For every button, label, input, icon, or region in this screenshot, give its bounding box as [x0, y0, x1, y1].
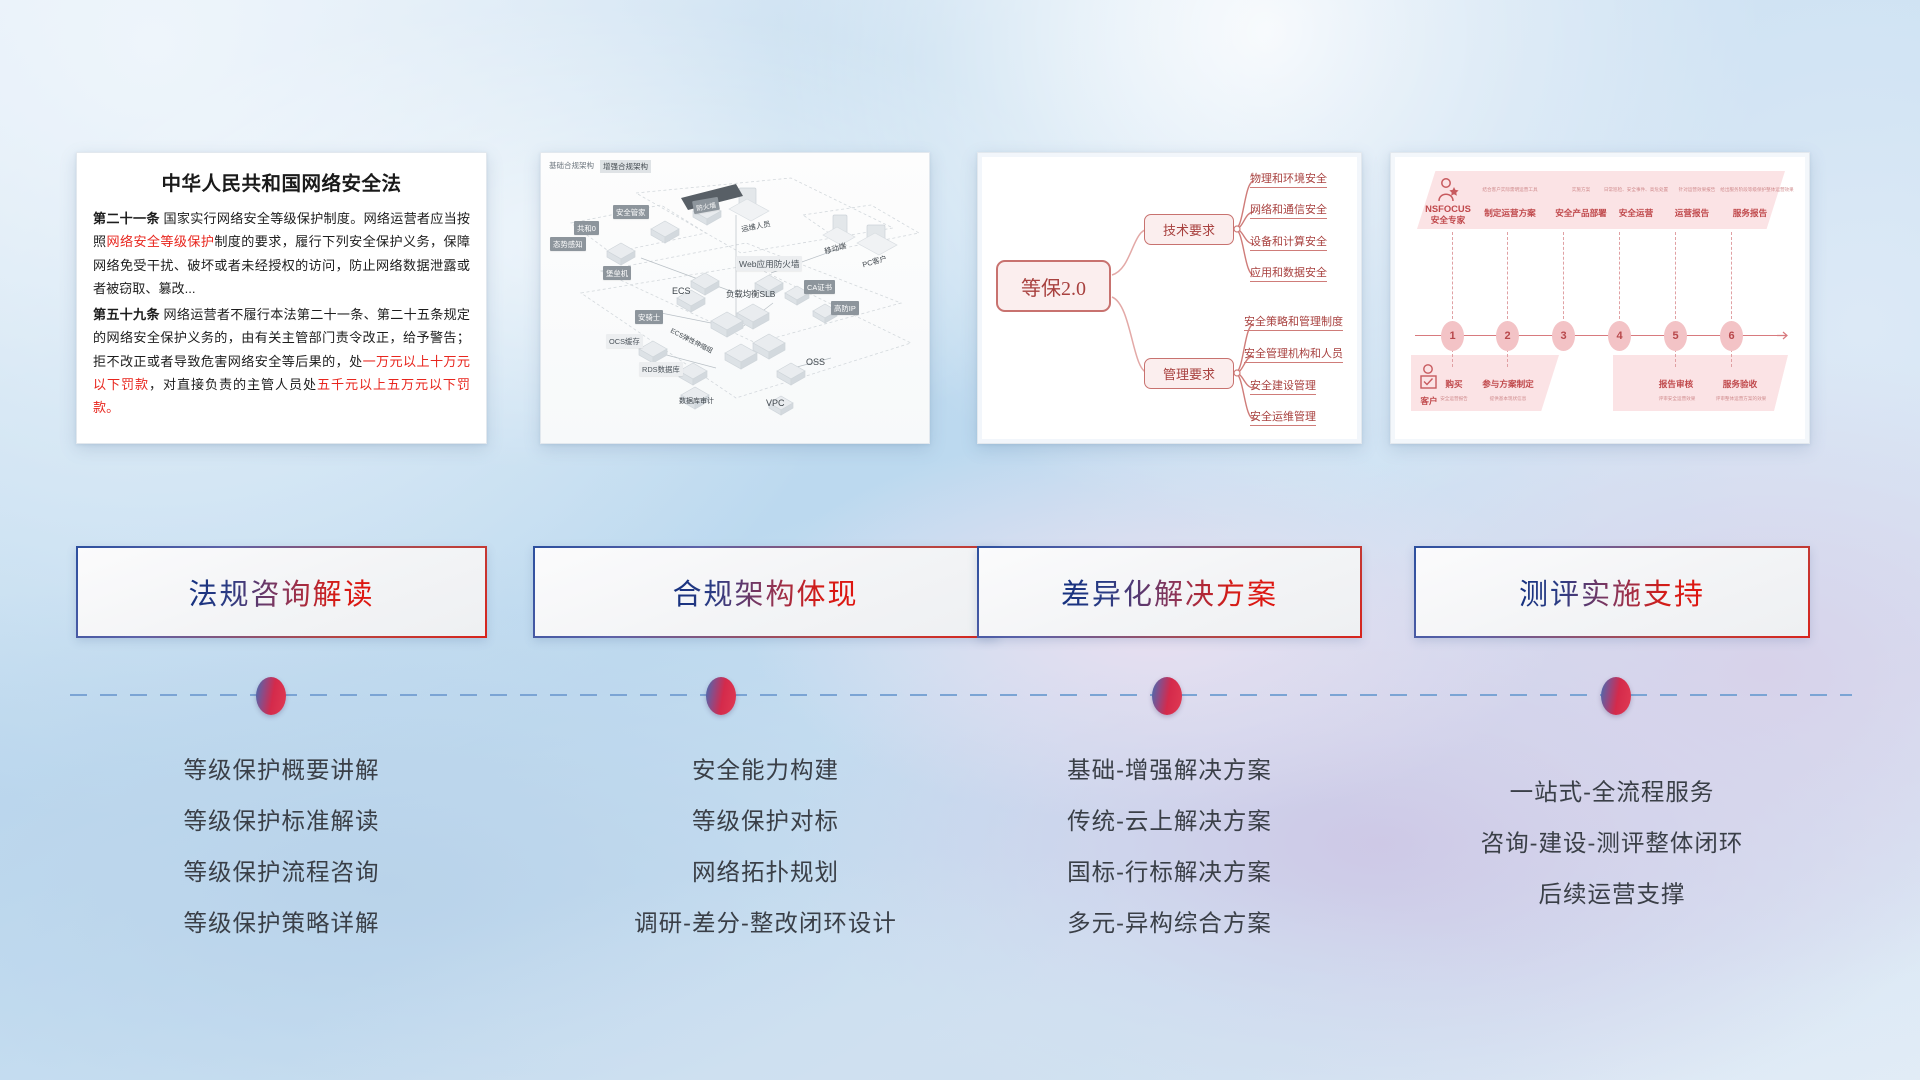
- mindmap-leaf-tech-4: 应用和数据安全: [1250, 264, 1327, 282]
- list-item: 等级保护标准解读: [76, 796, 487, 847]
- dash-connector-2: [1507, 232, 1508, 324]
- arch-label-ocs-cache: OCS缓存: [606, 334, 643, 348]
- timeline-number-6: 6: [1720, 321, 1743, 351]
- arch-label-bastion-host: 堡垒机: [603, 266, 631, 280]
- arch-label-shared: 共和0: [574, 221, 599, 235]
- mindmap-leaf-mgmt-3: 安全建设管理: [1250, 377, 1316, 395]
- list-item: 等级保护概要讲解: [76, 745, 487, 796]
- category-button-differentiated-solution[interactable]: 差异化解决方案: [977, 546, 1362, 638]
- category-label-4: 测评实施支持: [1519, 571, 1705, 613]
- mindmap-leaf-mgmt-4: 安全运维管理: [1250, 408, 1316, 426]
- article-59-number: 第五十九条: [93, 307, 160, 322]
- category-label-1: 法规咨询解读: [188, 571, 374, 613]
- category-label-2: 合规架构体现: [672, 571, 858, 613]
- card-cloud-architecture[interactable]: 基础合规架构 增强合规架构: [540, 152, 930, 444]
- article-21-highlight: 网络安全等级保护: [106, 234, 214, 249]
- list-item: 传统-云上解决方案: [977, 796, 1362, 847]
- law-document: 中华人民共和国网络安全法 第二十一条 国家实行网络安全等级保护制度。网络运营者应…: [77, 153, 486, 443]
- card-mindmap-dengbao[interactable]: 等保2.0 技术要求 管理要求 物理和环境安全 网络和通信安全 设备和计算安全 …: [977, 152, 1362, 444]
- mindmap-leaf-tech-1: 物理和环境安全: [1250, 170, 1327, 188]
- category-button-regulation-consulting[interactable]: 法规咨询解读: [76, 546, 487, 638]
- category-buttons-row: 法规咨询解读 合规架构体现 差异化解决方案 测评实施支持: [0, 546, 1920, 638]
- arch-label-anti-ddos-ip: 高防IP: [831, 301, 859, 315]
- service-list-2: 安全能力构建 等级保护对标 网络拓扑规划 调研-差分-整改闭环设计: [533, 745, 998, 949]
- arch-label-vpc: VPC: [763, 396, 788, 409]
- mindmap-branch-technical[interactable]: 技术要求: [1144, 214, 1234, 245]
- nsfocus-timeline: NSFOCUS 安全专家 结合客户实际需明运营工具 制定运营方案 实施方案 安全…: [1391, 153, 1809, 443]
- list-item: 后续运营支撑: [1414, 869, 1810, 920]
- top-step-5-sub: 给出服务阶段等级保护整体运营效果: [1695, 187, 1810, 193]
- arch-label-ecs: ECS: [669, 284, 694, 297]
- dash-connector-3: [1563, 232, 1564, 324]
- dash-connector-b4: [1731, 349, 1732, 367]
- card-cybersecurity-law[interactable]: 中华人民共和国网络安全法 第二十一条 国家实行网络安全等级保护制度。网络运营者应…: [76, 152, 487, 444]
- arch-label-anqishi: 安骑士: [635, 310, 663, 324]
- dash-connector-6: [1731, 232, 1732, 324]
- list-item: 基础-增强解决方案: [977, 745, 1362, 796]
- arch-label-situation-awareness: 态势感知: [550, 237, 586, 251]
- arch-label-ca-cert: CA证书: [804, 280, 835, 294]
- dash-connector-b2: [1507, 349, 1508, 367]
- mindmap-leaf-mgmt-1: 安全策略和管理制度: [1244, 313, 1343, 331]
- law-article-21: 第二十一条 国家实行网络安全等级保护制度。网络运营者应当按照网络安全等级保护制度…: [93, 207, 470, 300]
- mindmap-root[interactable]: 等保2.0: [996, 260, 1111, 312]
- service-list-3: 基础-增强解决方案 传统-云上解决方案 国标-行标解决方案 多元-异构综合方案: [977, 745, 1362, 949]
- card-nsfocus-service-timeline[interactable]: NSFOCUS 安全专家 结合客户实际需明运营工具 制定运营方案 实施方案 安全…: [1390, 152, 1810, 444]
- timeline-number-5: 5: [1664, 321, 1687, 351]
- bottom-step-4-title: 服务验收: [1707, 378, 1773, 390]
- category-button-assessment-support[interactable]: 测评实施支持: [1414, 546, 1810, 638]
- bottom-step-1-title: 购买: [1433, 378, 1475, 390]
- timeline-number-4: 4: [1608, 321, 1631, 351]
- arch-label-oss: OSS: [803, 355, 828, 368]
- arch-label-waf: Web应用防火墙: [736, 256, 802, 271]
- bottom-step-1-sub: 安全运营报告: [1429, 396, 1479, 402]
- service-lists-row: 等级保护概要讲解 等级保护标准解读 等级保护流程咨询 等级保护策略详解 安全能力…: [0, 745, 1920, 985]
- list-item: 国标-行标解决方案: [977, 847, 1362, 898]
- timeline-dot-4[interactable]: [1601, 677, 1631, 715]
- article-59-text-b: ，对直接负责的主管人员处: [149, 377, 317, 392]
- arch-label-security-manager: 安全管家: [613, 205, 649, 219]
- arch-label-rds: RDS数据库: [639, 362, 683, 376]
- list-item: 调研-差分-整改闭环设计: [533, 898, 998, 949]
- article-21-number: 第二十一条: [93, 211, 160, 226]
- bottom-step-2-title: 参与方案制定: [1475, 378, 1541, 390]
- timeline-number-3: 3: [1552, 321, 1575, 351]
- bottom-step-3-title: 报告审核: [1643, 378, 1709, 390]
- law-article-59: 第五十九条 网络运营者不履行本法第二十一条、第二十五条规定的网络安全保护义务的，…: [93, 303, 470, 419]
- bottom-step-4-sub: 评审整体运营方案的效果: [1699, 396, 1783, 402]
- list-item: 多元-异构综合方案: [977, 898, 1362, 949]
- timeline-dashed-line: [70, 694, 1852, 696]
- list-item: 咨询-建设-测评整体闭环: [1414, 818, 1810, 869]
- dash-connector-4: [1619, 232, 1620, 324]
- category-button-compliance-architecture[interactable]: 合规架构体现: [533, 546, 998, 638]
- architecture-diagram: 基础合规架构 增强合规架构: [541, 153, 929, 443]
- timeline-number-2: 2: [1496, 321, 1519, 351]
- expert-person-icon: [1435, 177, 1461, 203]
- list-item: 安全能力构建: [533, 745, 998, 796]
- mindmap-branch-management[interactable]: 管理要求: [1144, 358, 1234, 389]
- timeline-dot-2[interactable]: [706, 677, 736, 715]
- arch-label-db-audit: 数据库审计: [676, 394, 717, 407]
- list-item: 一站式-全流程服务: [1414, 767, 1810, 818]
- timeline-dot-3[interactable]: [1152, 677, 1182, 715]
- dash-connector-b1: [1452, 349, 1453, 367]
- list-item: 等级保护策略详解: [76, 898, 487, 949]
- timeline-arrow-icon: [1777, 329, 1791, 343]
- mindmap-leaf-tech-3: 设备和计算安全: [1250, 233, 1327, 251]
- list-item: 等级保护流程咨询: [76, 847, 487, 898]
- timeline-number-1: 1: [1441, 321, 1464, 351]
- service-list-1: 等级保护概要讲解 等级保护标准解读 等级保护流程咨询 等级保护策略详解: [76, 745, 487, 949]
- list-item: 网络拓扑规划: [533, 847, 998, 898]
- dash-connector-5: [1675, 232, 1676, 324]
- top-step-5-title: 服务报告: [1707, 207, 1793, 219]
- category-label-3: 差异化解决方案: [1061, 571, 1278, 613]
- mindmap-leaf-mgmt-2: 安全管理机构和人员: [1244, 345, 1343, 363]
- preview-cards-row: 中华人民共和国网络安全法 第二十一条 国家实行网络安全等级保护制度。网络运营者应…: [0, 152, 1920, 452]
- bottom-step-2-sub: 提供基本现状信息: [1475, 396, 1541, 402]
- service-list-4: 一站式-全流程服务 咨询-建设-测评整体闭环 后续运营支撑: [1414, 745, 1810, 920]
- mindmap-diagram: 等保2.0 技术要求 管理要求 物理和环境安全 网络和通信安全 设备和计算安全 …: [978, 153, 1361, 443]
- arch-label-slb: 负载均衡SLB: [723, 286, 778, 301]
- dash-connector-1: [1452, 232, 1453, 324]
- dash-connector-b3: [1675, 349, 1676, 367]
- mindmap-leaf-tech-2: 网络和通信安全: [1250, 201, 1327, 219]
- law-title: 中华人民共和国网络安全法: [93, 167, 470, 196]
- timeline-dot-1[interactable]: [256, 677, 286, 715]
- list-item: 等级保护对标: [533, 796, 998, 847]
